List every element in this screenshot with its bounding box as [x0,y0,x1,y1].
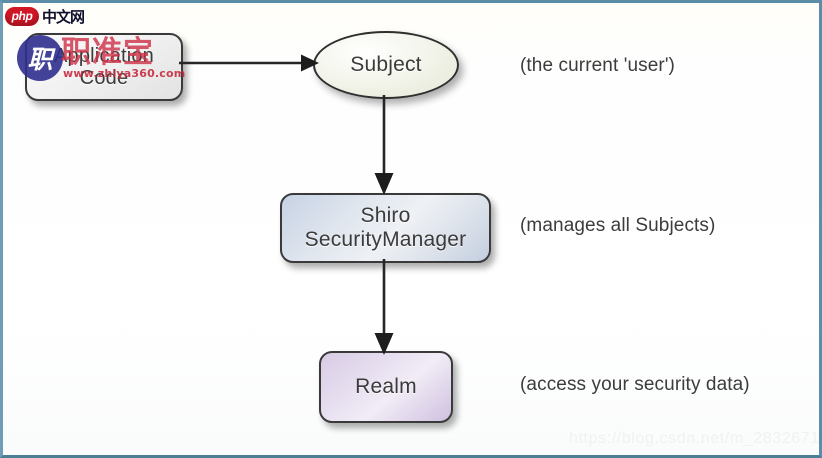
node-application-code-label: Application Code [54,45,154,90]
node-subject-label: Subject [350,53,421,77]
node-realm-label: Realm [355,375,417,399]
php-logo-badge: php [5,7,39,26]
annotation-subject: (the current 'user') [520,55,675,77]
annotation-securitymanager: (manages all Subjects) [520,215,715,237]
diagram-screenshot: Application Code Subject Shiro SecurityM… [0,0,822,458]
node-application-code[interactable]: Application Code [25,33,183,101]
annotation-realm: (access your security data) [520,374,750,396]
node-shiro-securitymanager-label: Shiro SecurityManager [305,204,467,251]
arrow-securitymanager-to-realm [371,259,397,355]
arrow-subject-to-securitymanager [371,95,397,195]
arrow-application-code-to-subject [179,51,319,75]
node-shiro-securitymanager[interactable]: Shiro SecurityManager [280,193,491,263]
watermark-bottom-right: https://blog.csdn.net/m_28326711 [569,430,822,448]
php-site-logo: php 中文网 [5,5,84,27]
diagram-canvas: Application Code Subject Shiro SecurityM… [3,3,819,455]
node-realm[interactable]: Realm [319,351,453,423]
node-subject[interactable]: Subject [313,31,459,99]
php-logo-text: 中文网 [42,6,84,27]
